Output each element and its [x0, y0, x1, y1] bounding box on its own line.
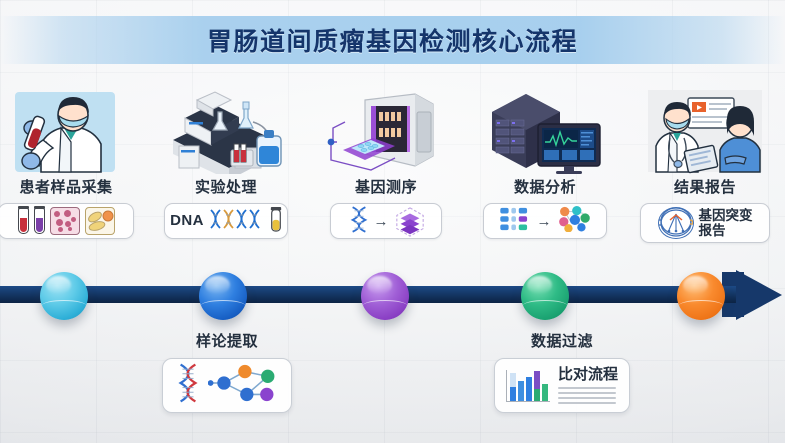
blood-tube-icon — [34, 208, 45, 234]
doctor-patient-consult-icon — [640, 88, 770, 174]
step-label: 数据分析 — [470, 176, 620, 197]
step-label: 基因测序 — [311, 176, 461, 197]
substep-data-filtering[interactable]: 数据过滤 比对流程 — [482, 330, 642, 413]
page-title: 胃肠道间质瘤基因检测核心流程 — [0, 18, 785, 62]
arrow-right-icon — [736, 270, 782, 320]
substep-label: 样论提取 — [147, 330, 307, 351]
timeline-node-5[interactable] — [677, 272, 725, 320]
substep-label: 数据过滤 — [482, 330, 642, 351]
network-nodes-icon — [208, 363, 278, 408]
substep-sample-extraction[interactable]: 样论提取 — [147, 330, 307, 413]
infographic-canvas: 胃肠道间质瘤基因检测核心流程 — [0, 0, 785, 443]
sequencing-machine-icon — [321, 88, 451, 174]
substep-card-extraction[interactable] — [162, 358, 292, 413]
step-data-analysis[interactable]: 数据分析 → — [470, 88, 620, 239]
lab-bench-equipment-icon — [161, 88, 291, 174]
data-stack-icon — [394, 206, 424, 236]
step-gene-sequencing[interactable]: 基因测序 → — [311, 88, 461, 239]
timeline-node-2[interactable] — [199, 272, 247, 320]
arrow-right-icon: → — [537, 214, 552, 229]
step-label: 结果报告 — [630, 176, 780, 197]
dna-helix-icon — [349, 205, 369, 238]
step-result-report[interactable]: 结果报告 基因突变 报告 — [630, 88, 780, 243]
chip-label-dna: DNA — [170, 213, 204, 230]
server-rack-monitor-icon — [480, 88, 610, 174]
doctor-holding-blood-tube-icon — [1, 88, 131, 174]
dna-helix-red-blue-icon — [176, 362, 200, 409]
timeline-node-1[interactable] — [40, 272, 88, 320]
step-chip-dna[interactable]: DNA — [164, 203, 288, 239]
substep-card-filtering[interactable]: 比对流程 — [494, 358, 630, 413]
text-lines-icon — [558, 387, 616, 404]
step-chip-sample[interactable] — [0, 203, 134, 239]
reagent-tube-icon — [270, 205, 282, 238]
specimen-icon — [85, 207, 115, 235]
step-chip-analysis[interactable]: → — [483, 203, 607, 239]
step-lab-processing[interactable]: 实验处理 DNA — [151, 88, 301, 239]
step-label: 实验处理 — [151, 176, 301, 197]
chip-label-report: 基因突变 报告 — [699, 208, 753, 238]
card-label-comparison: 比对流程 — [558, 367, 618, 384]
dna-helix-icon — [209, 207, 265, 236]
data-matrix-icon — [500, 207, 532, 236]
step-label: 患者样品采集 — [0, 176, 141, 197]
step-chip-sequencing[interactable]: → — [330, 203, 442, 239]
cluster-nodes-icon — [557, 206, 591, 237]
step-sample-collection[interactable]: 患者样品采集 — [0, 88, 141, 239]
report-chart-icon — [658, 207, 694, 239]
arrow-right-icon: → — [374, 214, 389, 229]
timeline-node-3[interactable] — [361, 272, 409, 320]
blood-tube-icon — [18, 208, 29, 234]
step-chip-report[interactable]: 基因突变 报告 — [640, 203, 770, 243]
timeline-node-4[interactable] — [521, 272, 569, 320]
bar-chart-icon — [506, 370, 550, 402]
petri-dish-icon — [50, 207, 80, 235]
